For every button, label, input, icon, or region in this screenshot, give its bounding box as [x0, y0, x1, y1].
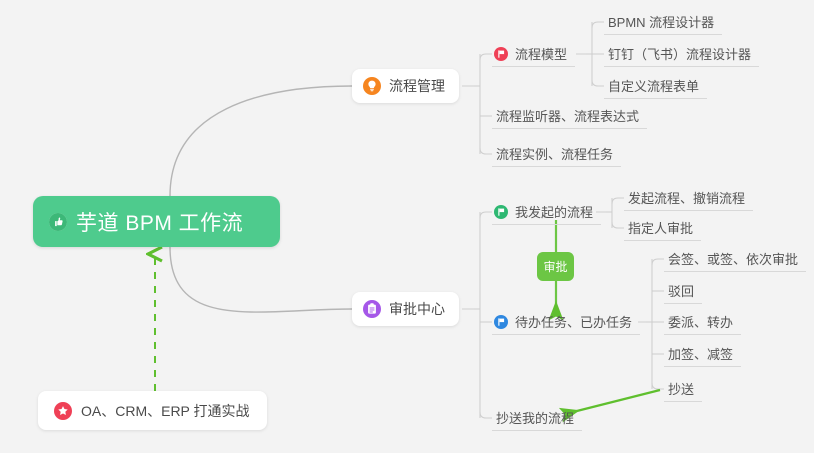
node-process-instance-task[interactable]: 流程实例、流程任务	[492, 141, 621, 167]
node-my-initiated[interactable]: 我发起的流程	[492, 199, 601, 225]
node-label-process-instance-task: 流程实例、流程任务	[496, 144, 613, 163]
approval-tag[interactable]: 审批	[537, 252, 574, 281]
wire-pm-to-process-model	[480, 54, 492, 60]
star-icon	[54, 402, 72, 420]
node-process-listener[interactable]: 流程监听器、流程表达式	[492, 103, 647, 129]
node-label-todo-done-tasks: 待办任务、已办任务	[515, 312, 632, 331]
node-dingtalk-feishu-designer[interactable]: 钉钉（飞书）流程设计器	[604, 41, 759, 67]
node-cc-to-me[interactable]: 抄送我的流程	[492, 405, 582, 431]
wire-pmodel-to-customform	[592, 80, 604, 86]
lightbulb-icon	[363, 77, 381, 95]
wire-todo-to-cc	[652, 383, 664, 389]
flag-icon	[494, 205, 508, 219]
node-add-remove-sign[interactable]: 加签、减签	[664, 341, 741, 367]
wire-process-management-bracket	[462, 54, 480, 154]
node-start-cancel-process[interactable]: 发起流程、撤销流程	[624, 185, 753, 211]
node-label-cc: 抄送	[668, 379, 694, 398]
node-label-start-cancel-process: 发起流程、撤销流程	[628, 188, 745, 207]
branch-node-process-management[interactable]: 流程管理	[352, 69, 459, 103]
wire-root-to-process-management	[170, 86, 352, 196]
wire-mi-to-start	[612, 198, 624, 204]
branch-node-approval-center[interactable]: 审批中心	[352, 292, 459, 326]
wire-pmodel-to-bpmn	[592, 22, 604, 28]
node-label-process-model: 流程模型	[515, 44, 567, 63]
branch-label-approval-center: 审批中心	[389, 299, 445, 319]
wire-todo-to-counter	[652, 259, 664, 265]
node-label-delegate-transfer: 委派、转办	[668, 312, 733, 331]
node-label-add-remove-sign: 加签、减签	[668, 344, 733, 363]
node-label-reject: 驳回	[668, 281, 694, 300]
node-cc[interactable]: 抄送	[664, 376, 702, 402]
node-label-assignee-approval: 指定人审批	[628, 218, 693, 237]
node-label-dingtalk-feishu-designer: 钉钉（飞书）流程设计器	[608, 44, 751, 63]
mindmap-canvas: 芋道 BPM 工作流 流程管理 审批中心	[0, 0, 814, 453]
node-counter-or-sequential-sign[interactable]: 会签、或签、依次审批	[664, 246, 806, 272]
thumbs-up-icon	[49, 213, 67, 231]
clipboard-icon	[363, 300, 381, 318]
flag-icon	[494, 47, 508, 61]
wire-root-to-approval-center	[170, 247, 352, 312]
node-todo-done-tasks[interactable]: 待办任务、已办任务	[492, 309, 640, 335]
node-label-cc-to-me: 抄送我的流程	[496, 408, 574, 427]
integration-callout-node[interactable]: OA、CRM、ERP 打通实战	[38, 391, 267, 430]
node-label-bpmn-designer: BPMN 流程设计器	[608, 12, 714, 31]
flag-icon	[494, 315, 508, 329]
node-label-custom-process-form: 自定义流程表单	[608, 76, 699, 95]
root-node[interactable]: 芋道 BPM 工作流	[33, 196, 280, 247]
wire-process-model-bracket	[576, 22, 592, 86]
branch-label-process-management: 流程管理	[389, 76, 445, 96]
wire-pm-to-instance	[480, 148, 492, 154]
wire-approval-center-bracket	[462, 212, 480, 418]
node-label-my-initiated: 我发起的流程	[515, 202, 593, 221]
wire-ac-to-my-initiated	[480, 212, 492, 218]
approval-tag-label: 审批	[543, 258, 567, 275]
wire-ac-to-ccme	[480, 412, 492, 418]
node-assignee-approval[interactable]: 指定人审批	[624, 215, 701, 241]
node-reject[interactable]: 驳回	[664, 278, 702, 304]
node-process-model[interactable]: 流程模型	[492, 41, 575, 67]
node-delegate-transfer[interactable]: 委派、转办	[664, 309, 741, 335]
integration-callout-label: OA、CRM、ERP 打通实战	[81, 401, 250, 421]
wire-todo-bracket	[638, 259, 652, 389]
root-label: 芋道 BPM 工作流	[76, 207, 243, 237]
node-label-process-listener: 流程监听器、流程表达式	[496, 106, 639, 125]
wire-mi-to-assignee	[612, 222, 624, 228]
node-bpmn-designer[interactable]: BPMN 流程设计器	[604, 9, 722, 35]
node-label-counter-or-sequential-sign: 会签、或签、依次审批	[668, 249, 798, 268]
node-custom-process-form[interactable]: 自定义流程表单	[604, 73, 707, 99]
